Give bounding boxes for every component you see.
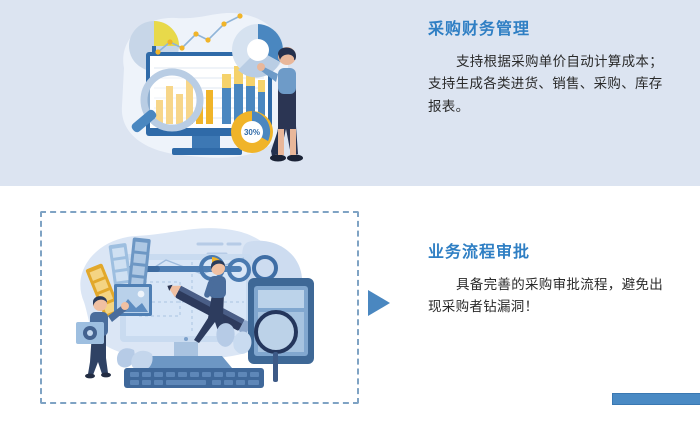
percent-donut-chart: 30% bbox=[231, 111, 273, 153]
progress-bar bbox=[612, 393, 700, 405]
section-1-body: 支持根据采购单价自动计算成本；支持生成各类进货、销售、采购、库存报表。 bbox=[428, 51, 676, 118]
section-2-text-block: 业务流程审批 具备完善的采购审批流程，避免出现采购者钻漏洞！ bbox=[428, 243, 676, 319]
illustration-data-analytics: 30% bbox=[112, 8, 304, 168]
section-2-body: 具备完善的采购审批流程，避免出现采购者钻漏洞！ bbox=[428, 274, 676, 319]
percent-donut-label: 30% bbox=[244, 128, 260, 137]
right-arrow-icon bbox=[368, 290, 390, 316]
section-2-title: 业务流程审批 bbox=[428, 243, 676, 262]
section-1-text-block: 采购财务管理 支持根据采购单价自动计算成本；支持生成各类进货、销售、采购、库存报… bbox=[428, 20, 676, 118]
dashed-outline bbox=[40, 211, 359, 404]
section-1-title: 采购财务管理 bbox=[428, 20, 676, 39]
page-root: 30% bbox=[0, 0, 700, 426]
